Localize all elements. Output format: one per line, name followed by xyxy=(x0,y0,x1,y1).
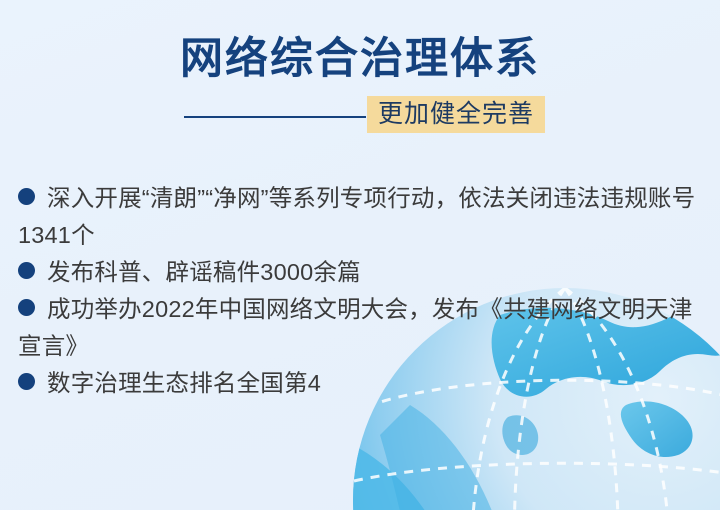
list-item: 发布科普、辟谣稿件3000余篇 xyxy=(18,254,708,291)
title-row: 网络综合治理体系 xyxy=(0,0,720,81)
subtitle-row: 更加健全完善 xyxy=(0,96,720,140)
poster-header: 网络综合治理体系 更加健全完善 xyxy=(0,0,720,140)
bullet-dot-icon xyxy=(18,299,35,316)
bullet-dot-icon xyxy=(18,188,35,205)
list-item: 深入开展“清朗”“净网”等系列专项行动，依法关闭违法违规账号1341个 xyxy=(18,180,708,254)
list-item-text: 深入开展“清朗”“净网”等系列专项行动，依法关闭违法违规账号1341个 xyxy=(18,185,695,248)
list-item-text: 成功举办2022年中国网络文明大会，发布《共建网络文明天津宣言》 xyxy=(18,296,693,359)
poster-canvas: 网络综合治理体系 更加健全完善 深入开展“清朗”“净网”等系列专项行动，依法关闭… xyxy=(0,0,720,510)
list-item: 成功举办2022年中国网络文明大会，发布《共建网络文明天津宣言》 xyxy=(18,291,708,365)
title-divider xyxy=(184,116,366,118)
bullet-dot-icon xyxy=(18,373,35,390)
page-title: 网络综合治理体系 xyxy=(180,38,540,81)
list-item-text: 数字治理生态排名全国第4 xyxy=(47,370,321,396)
list-item: 数字治理生态排名全国第4 xyxy=(18,365,708,402)
list-item-text: 发布科普、辟谣稿件3000余篇 xyxy=(47,259,361,285)
subtitle-badge: 更加健全完善 xyxy=(367,96,545,133)
bullet-dot-icon xyxy=(18,262,35,279)
bullet-list: 深入开展“清朗”“净网”等系列专项行动，依法关闭违法违规账号1341个 发布科普… xyxy=(18,180,708,402)
